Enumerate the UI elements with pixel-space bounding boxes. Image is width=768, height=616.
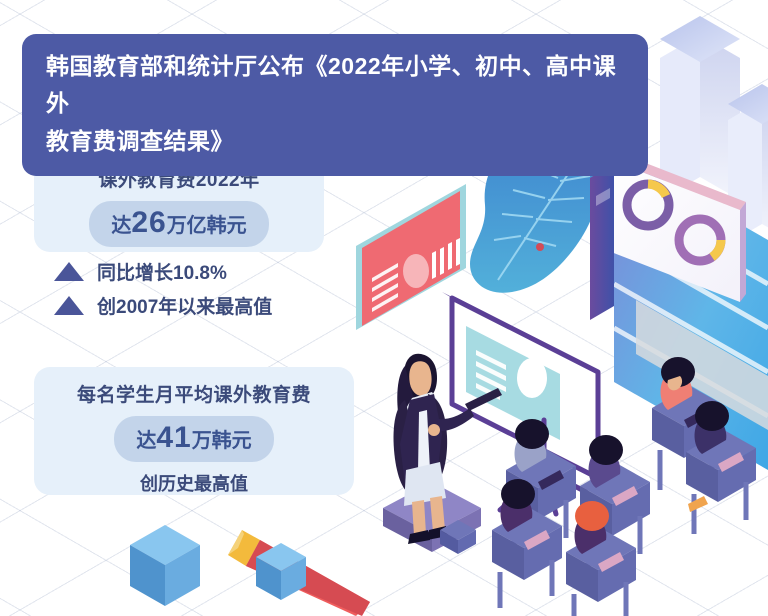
triangle-up-icon <box>54 262 84 281</box>
key-point-row: 同比增长10.8% <box>54 258 272 285</box>
key-point-label: 同比增长10.8% <box>97 258 227 285</box>
stat-value-pill: 达26万亿韩元 <box>89 201 268 247</box>
value-suffix: 万亿韩元 <box>167 215 247 237</box>
headline-banner: 韩国教育部和统计厅公布《2022年小学、初中、高中课外 教育费调查结果》 <box>22 34 648 176</box>
stat-card-footnote: 创历史最高值 <box>34 470 354 496</box>
value-number: 41 <box>156 421 191 454</box>
blue-isometric-cubes <box>130 525 306 606</box>
value-number: 26 <box>131 206 166 239</box>
key-point-label: 创2007年以来最高值 <box>97 292 272 319</box>
headline-line-2: 教育费调查结果》 <box>46 123 624 160</box>
key-points-list: 同比增长10.8% 创2007年以来最高值 <box>54 258 272 326</box>
stat-card-per-student-monthly: 每名学生月平均课外教育费 达41万韩元 创历史最高值 <box>34 367 354 495</box>
side-wall-panel <box>590 164 614 320</box>
triangle-up-icon <box>54 296 84 315</box>
stat-value-pill: 达41万韩元 <box>114 416 273 462</box>
value-prefix: 达 <box>111 215 131 237</box>
stat-card-heading: 每名学生月平均课外教育费 <box>34 367 354 407</box>
key-point-row: 创2007年以来最高值 <box>54 292 272 319</box>
value-prefix: 达 <box>136 430 156 452</box>
headline-line-1: 韩国教育部和统计厅公布《2022年小学、初中、高中课外 <box>46 48 624 123</box>
infographic-root: 韩国教育部和统计厅公布《2022年小学、初中、高中课外 教育费调查结果》 课外教… <box>0 0 768 616</box>
value-suffix: 万韩元 <box>192 430 252 452</box>
